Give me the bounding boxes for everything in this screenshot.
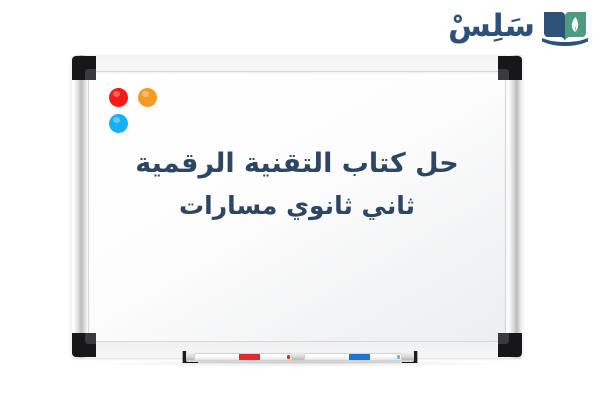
brand-logo: سَلِسْ [448,4,588,50]
whiteboard-surface [88,71,506,342]
whiteboard: حل كتاب التقنية الرقمية ثاني ثانوي مسارا… [71,55,523,358]
whiteboard-frame-left-rail [71,55,88,358]
open-book-icon [542,7,588,47]
whiteboard-frame-right-rail [506,55,523,358]
magnet-orange [138,88,157,107]
corner-bracket-bottom-left [72,333,96,357]
corner-bracket-top-left [72,56,96,80]
corner-bracket-top-right [498,56,522,80]
corner-bracket-bottom-right [498,333,522,357]
marker-blue-tip [397,355,400,359]
brand-wordmark: سَلِسْ [448,11,535,42]
marker-red-tip [287,355,290,359]
board-drop-shadow [96,360,504,367]
magnet-red [109,88,128,107]
magnet-blue [109,114,128,133]
poster-canvas: سَلِسْ حل كتاب التقنية الرقمية ثاني ثانو… [0,0,600,400]
marker-blue-band [349,354,370,360]
